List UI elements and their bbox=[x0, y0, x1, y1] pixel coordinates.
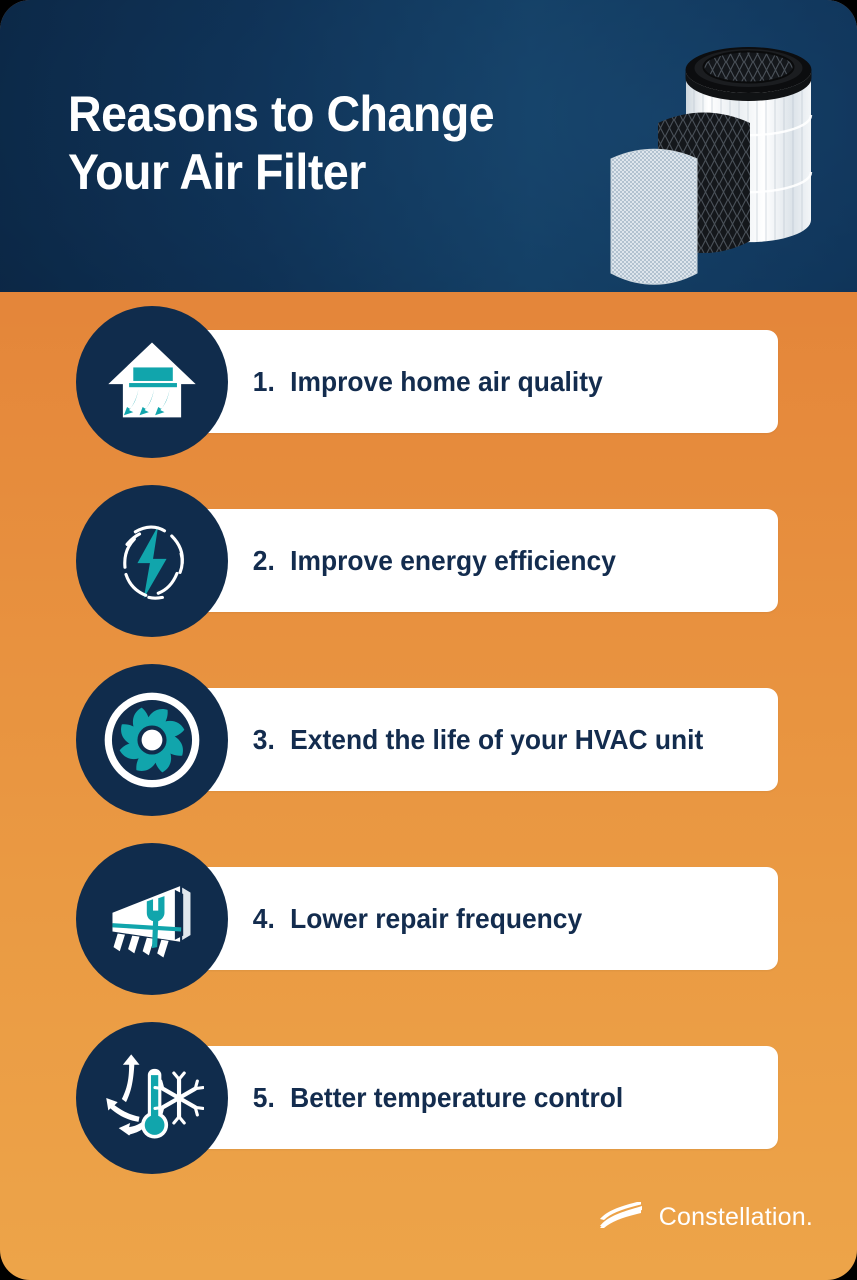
infographic-poster: Reasons to Change Your Air Filter bbox=[0, 0, 857, 1280]
constellation-swoosh-icon bbox=[596, 1202, 646, 1232]
fan-blower-icon bbox=[100, 688, 204, 792]
reason-number: 1. bbox=[253, 366, 275, 398]
list-item[interactable]: 4. Lower repair frequency bbox=[0, 829, 857, 1008]
list-item[interactable]: 3. Extend the life of your HVAC unit bbox=[0, 650, 857, 829]
house-airflow-icon bbox=[100, 330, 204, 434]
reason-number: 4. bbox=[253, 903, 275, 935]
reason-number: 5. bbox=[253, 1082, 275, 1114]
air-filter-illustration bbox=[591, 22, 821, 290]
ac-unit-wrench-icon bbox=[100, 867, 204, 971]
reason-label: Improve home air quality bbox=[290, 366, 602, 398]
reason-label: Extend the life of your HVAC unit bbox=[290, 724, 703, 756]
brand-name: Constellation. bbox=[659, 1203, 813, 1232]
reason-icon-badge bbox=[76, 306, 228, 458]
reason-label: Better temperature control bbox=[290, 1082, 623, 1114]
reason-card[interactable]: 3. Extend the life of your HVAC unit bbox=[152, 688, 778, 791]
reasons-list: 1. Improve home air quality bbox=[0, 292, 857, 1187]
thermometer-snowflake-icon bbox=[100, 1046, 204, 1150]
reason-card[interactable]: 2. Improve energy efficiency bbox=[152, 509, 778, 612]
brand-logo: Constellation. bbox=[596, 1202, 813, 1232]
reason-icon-badge bbox=[76, 843, 228, 995]
reason-number: 3. bbox=[253, 724, 275, 756]
list-item[interactable]: 5. Better temperature control bbox=[0, 1008, 857, 1187]
lightning-bolt-icon bbox=[100, 509, 204, 613]
reason-label: Improve energy efficiency bbox=[290, 545, 616, 577]
reason-card[interactable]: 5. Better temperature control bbox=[152, 1046, 778, 1149]
reason-icon-badge bbox=[76, 664, 228, 816]
reason-card[interactable]: 1. Improve home air quality bbox=[152, 330, 778, 433]
reason-number: 2. bbox=[253, 545, 275, 577]
reason-icon-badge bbox=[76, 485, 228, 637]
reason-label: Lower repair frequency bbox=[290, 903, 582, 935]
reason-card[interactable]: 4. Lower repair frequency bbox=[152, 867, 778, 970]
list-item[interactable]: 1. Improve home air quality bbox=[0, 292, 857, 471]
reason-icon-badge bbox=[76, 1022, 228, 1174]
list-item[interactable]: 2. Improve energy efficiency bbox=[0, 471, 857, 650]
poster-header: Reasons to Change Your Air Filter bbox=[0, 0, 857, 292]
page-title: Reasons to Change Your Air Filter bbox=[68, 85, 494, 201]
